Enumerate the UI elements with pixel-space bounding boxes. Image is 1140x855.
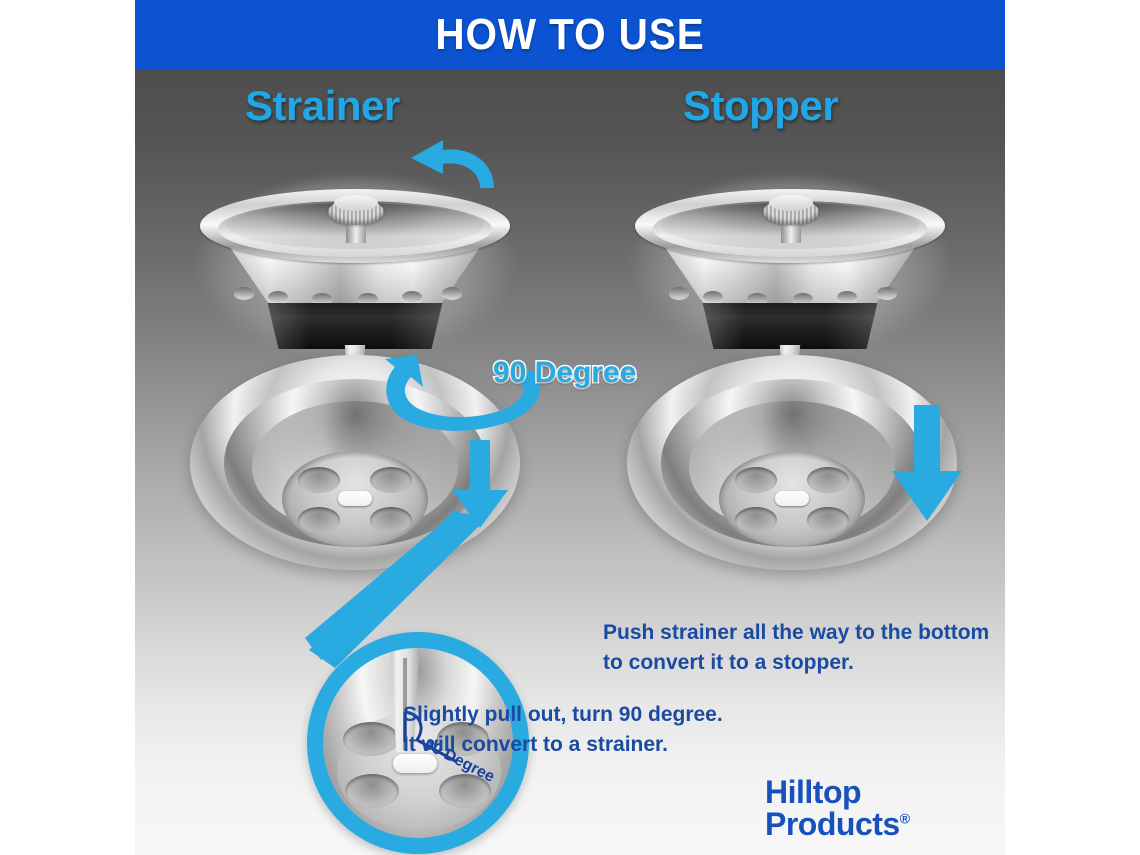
down-arrow-icon-right — [890, 405, 964, 525]
brand-logo: Hilltop Products® — [765, 776, 910, 840]
caption-stopper-line-2: to convert it to a stopper. — [603, 648, 989, 678]
caption-stopper-line-1: Push strainer all the way to the bottom — [603, 618, 989, 648]
magnified-opening-1 — [343, 722, 399, 756]
magnified-opening-3 — [345, 774, 399, 808]
drain-opening-left-1 — [298, 467, 340, 493]
drain-opening-left-2 — [370, 467, 412, 493]
strainer-knob-top-left — [334, 195, 378, 211]
caption-strainer: Slightly pull out, turn 90 degree. It wi… — [403, 700, 723, 760]
drain-center-slot-right — [775, 491, 809, 506]
strainer-knob-top-right — [769, 195, 813, 211]
header-banner: HOW TO USE — [135, 0, 1005, 70]
caption-strainer-line-1: Slightly pull out, turn 90 degree. — [403, 700, 723, 730]
brand-line-1: Hilltop — [765, 776, 910, 808]
page-title: HOW TO USE — [170, 0, 970, 70]
product-instruction-graphic: Strainer Stopper — [0, 0, 1140, 855]
drain-opening-right-2 — [807, 467, 849, 493]
drain-center-slot-left — [338, 491, 372, 506]
caption-stopper: Push strainer all the way to the bottom … — [603, 618, 989, 678]
drain-opening-right-1 — [735, 467, 777, 493]
column-title-strainer: Strainer — [245, 82, 400, 130]
column-title-stopper: Stopper — [683, 82, 838, 130]
strainer-perforations-right — [669, 277, 911, 299]
strainer-gasket-highlight-left — [264, 303, 446, 349]
drain-opening-right-3 — [735, 507, 777, 533]
caption-strainer-line-2: It will convert to a strainer. — [403, 730, 723, 760]
rotation-degree-label-text: 90 Degree — [493, 356, 636, 389]
strainer-gasket-highlight-right — [699, 303, 881, 349]
drain-opening-right-4 — [807, 507, 849, 533]
brand-line-2: Products — [765, 806, 900, 842]
strainer-perforations-left — [234, 277, 476, 299]
illustration-canvas: Strainer Stopper — [135, 0, 1005, 855]
brand-line-2-wrap: Products® — [765, 808, 910, 840]
rotation-degree-label: 90 Degree — [493, 356, 636, 390]
registered-trademark-icon: ® — [900, 810, 910, 826]
rotate-arrow-icon-top — [395, 138, 505, 198]
